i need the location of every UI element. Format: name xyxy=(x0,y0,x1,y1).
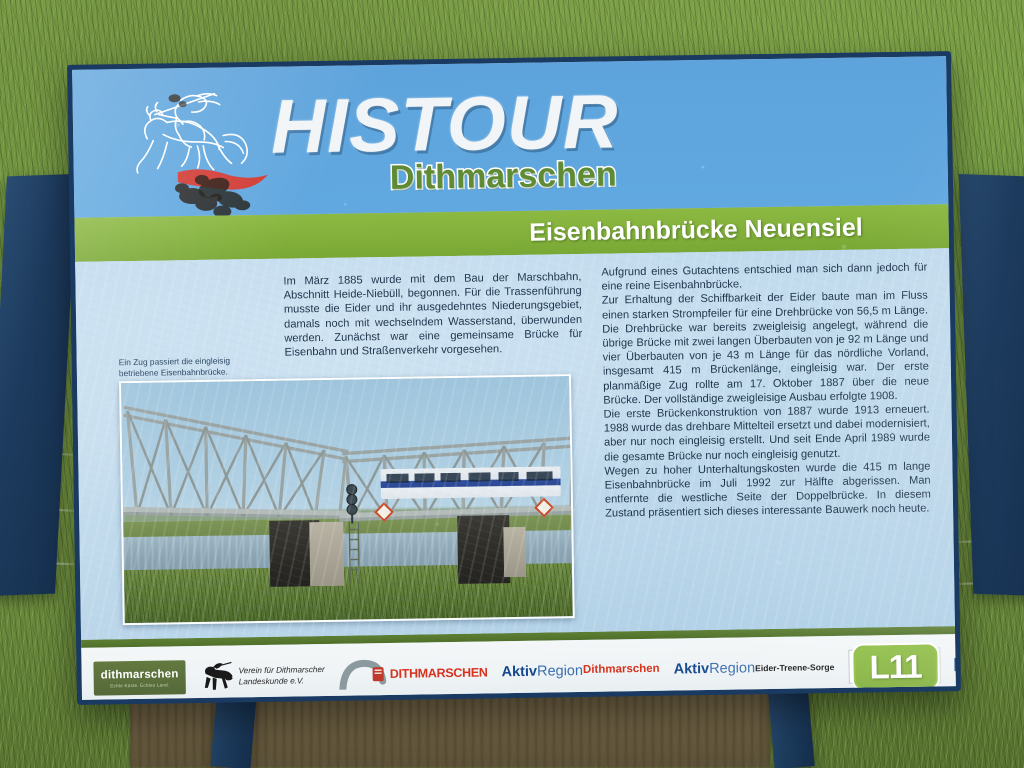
verein-line1: Verein für Dithmarscher xyxy=(238,664,324,676)
support-post-left xyxy=(0,174,77,596)
kreis-dithmarschen-logo: DITHMARSCHEN xyxy=(339,657,488,689)
histour-subtitle: Dithmarschen xyxy=(390,152,833,198)
kreis-arc-icon xyxy=(339,659,387,690)
aktivregion-eider-treene-sorge-logo: AktivRegion Eider-Treene-Sorge xyxy=(674,660,835,677)
brand-wordmark: HISTOUR Dithmarschen xyxy=(270,80,832,209)
truss-span-left xyxy=(119,385,359,539)
verein-landeskunde-logo: Verein für Dithmarscher Landeskunde e.V. xyxy=(199,660,325,692)
sponsor-logos: dithmarschen Echte Küste. Echtes Land. xyxy=(93,645,961,696)
weathering-speck xyxy=(158,78,199,119)
eu-flag-icon xyxy=(954,658,961,671)
route-badge: L11 xyxy=(851,642,940,691)
content-column-right: Aufgrund eines Gutachtens entschied man … xyxy=(595,248,955,632)
route-badge-label: L11 xyxy=(869,648,922,687)
bridge-pier-right xyxy=(457,515,510,584)
bridge-pier-cap xyxy=(309,522,344,587)
intro-paragraph: Im März 1885 wurde mit dem Bau der Marsc… xyxy=(283,270,582,360)
dithmarschen-logo: dithmarschen Echte Küste. Echtes Land. xyxy=(93,660,186,695)
weathering-stain xyxy=(169,143,280,218)
page-title: Eisenbahnbrücke Neuensiel xyxy=(529,213,863,247)
photo-caption: Ein Zug passiert die eingleisig betriebe… xyxy=(119,355,269,379)
board-header: HISTOUR Dithmarschen xyxy=(72,56,948,218)
bridge-pier-cap-right xyxy=(503,527,526,577)
outdoor-scene: HISTOUR Dithmarschen Eisenbahnbrücke xyxy=(0,0,1024,768)
body-paragraph: Zur Erhaltung der Schiffbarkeit der Eide… xyxy=(602,289,930,408)
body-paragraph: Die erste Brückenkonstruktion von 1887 w… xyxy=(603,403,930,465)
eu-sh-logo: QR xyxy=(954,654,961,675)
knight-small-icon xyxy=(199,661,233,692)
aktivregion-dithmarschen-logo: AktivRegion Dithmarschen xyxy=(501,662,659,679)
information-board: HISTOUR Dithmarschen Eisenbahnbrücke xyxy=(67,51,961,705)
body-paragraph: Wegen zu hoher Unterhaltungskosten wurde… xyxy=(604,459,931,521)
regional-train xyxy=(380,466,560,499)
board-content: Im März 1885 wurde mit dem Bau der Marsc… xyxy=(75,248,955,640)
verein-line2: Landeskunde e.V. xyxy=(239,675,325,687)
support-post-right xyxy=(959,174,1024,596)
railway-signal-icon xyxy=(339,483,366,523)
bridge-photo xyxy=(119,374,575,625)
content-column-left: Im März 1885 wurde mit dem Bau der Marsc… xyxy=(75,254,601,640)
pier-ladder-icon xyxy=(345,521,366,583)
